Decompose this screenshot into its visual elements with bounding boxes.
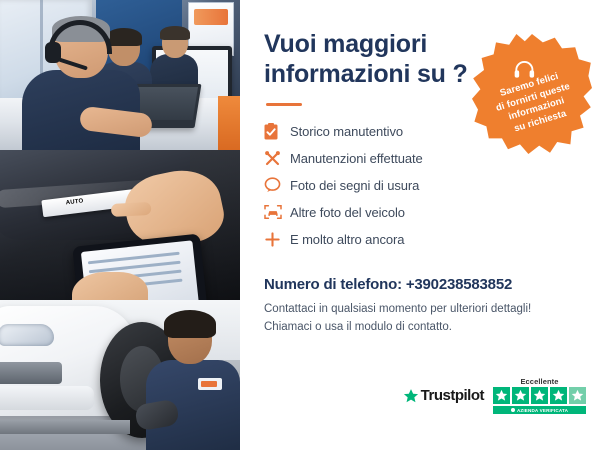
plus-icon [264,229,290,249]
feature-item-altre-foto-veicolo: Altre foto del veicolo [264,199,578,225]
technician-hand-lower [72,272,148,300]
feature-label: Storico manutentivo [290,124,403,139]
clipboard-check-icon [264,121,290,141]
feature-label: Manutenzioni effettuate [290,151,423,166]
headset-icon [513,60,535,78]
content-panel: Vuoi maggiori informazioni su ? Saremo f… [240,0,600,450]
feature-label: E molto altro ancora [290,232,404,247]
rating-label: Eccellente [493,377,586,386]
trustpilot-rating-widget[interactable]: Trustpilot Eccellente [403,377,586,414]
technician-finger [111,202,152,217]
car-headlight [0,324,54,346]
car-bumper [0,386,94,410]
feature-item-molto-altro: E molto altro ancora [264,226,578,252]
contact-line-1: Contattaci in qualsiasi momento per ulte… [264,301,578,319]
phone-block: Numero di telefono: +390238583852 Contat… [264,276,578,337]
call-center-agents-photo [0,0,240,150]
car-grille [0,362,62,384]
mechanic-hair [164,310,216,338]
verified-check-icon [511,408,515,412]
headline-line-2: informazioni su ? [264,60,479,90]
verified-company-badge: AZIENDA VERIFICATA [493,406,586,414]
photo-column: AUTO [0,0,240,450]
phone-number-label[interactable]: Numero di telefono: +390238583852 [264,276,578,293]
verified-label: AZIENDA VERIFICATA [517,408,568,413]
foreground-agent [22,18,140,150]
star-filled [550,387,567,404]
star-half [569,387,586,404]
star-filled [531,387,548,404]
vehicle-inspection-photo: AUTO [0,150,240,300]
headline-line-1: Vuoi maggiori [264,30,479,60]
star-rating [493,387,586,404]
orange-equipment-edge [218,96,240,150]
star-filled [512,387,529,404]
contact-instructions: Contattaci in qualsiasi momento per ulte… [264,301,578,337]
trustpilot-logo: Trustpilot [403,387,484,404]
tool-brand-label: AUTO [66,198,84,206]
feature-label: Foto dei segni di usura [290,178,419,193]
contact-line-2: Chiamaci o usa il modulo di contatto. [264,319,578,337]
vehicle-lift-platform [0,420,130,434]
vehicle-info-ad-banner: AUTO [0,0,600,450]
mechanic-uniform-badge [198,378,222,390]
agent-two-hair [160,26,190,40]
garage-wheel-service-photo [0,300,240,450]
star-filled [493,387,510,404]
car-photo-frame-icon [264,202,290,222]
mechanic-figure [140,314,240,450]
page-title: Vuoi maggiori informazioni su ? [264,30,479,89]
callout-badge: Saremo felici di fornirti queste informa… [472,34,592,154]
feature-label: Altre foto del veicolo [290,205,405,220]
feature-item-foto-segni-usura: Foto dei segni di usura [264,172,578,198]
trustpilot-wordmark: Trustpilot [421,387,484,404]
trustpilot-star-icon [403,388,419,404]
title-divider [266,103,302,106]
speech-bubble-icon [264,175,290,195]
wrench-screwdriver-icon [264,148,290,168]
background-agent-two [150,28,200,90]
trustpilot-rating: Eccellente [493,377,586,414]
